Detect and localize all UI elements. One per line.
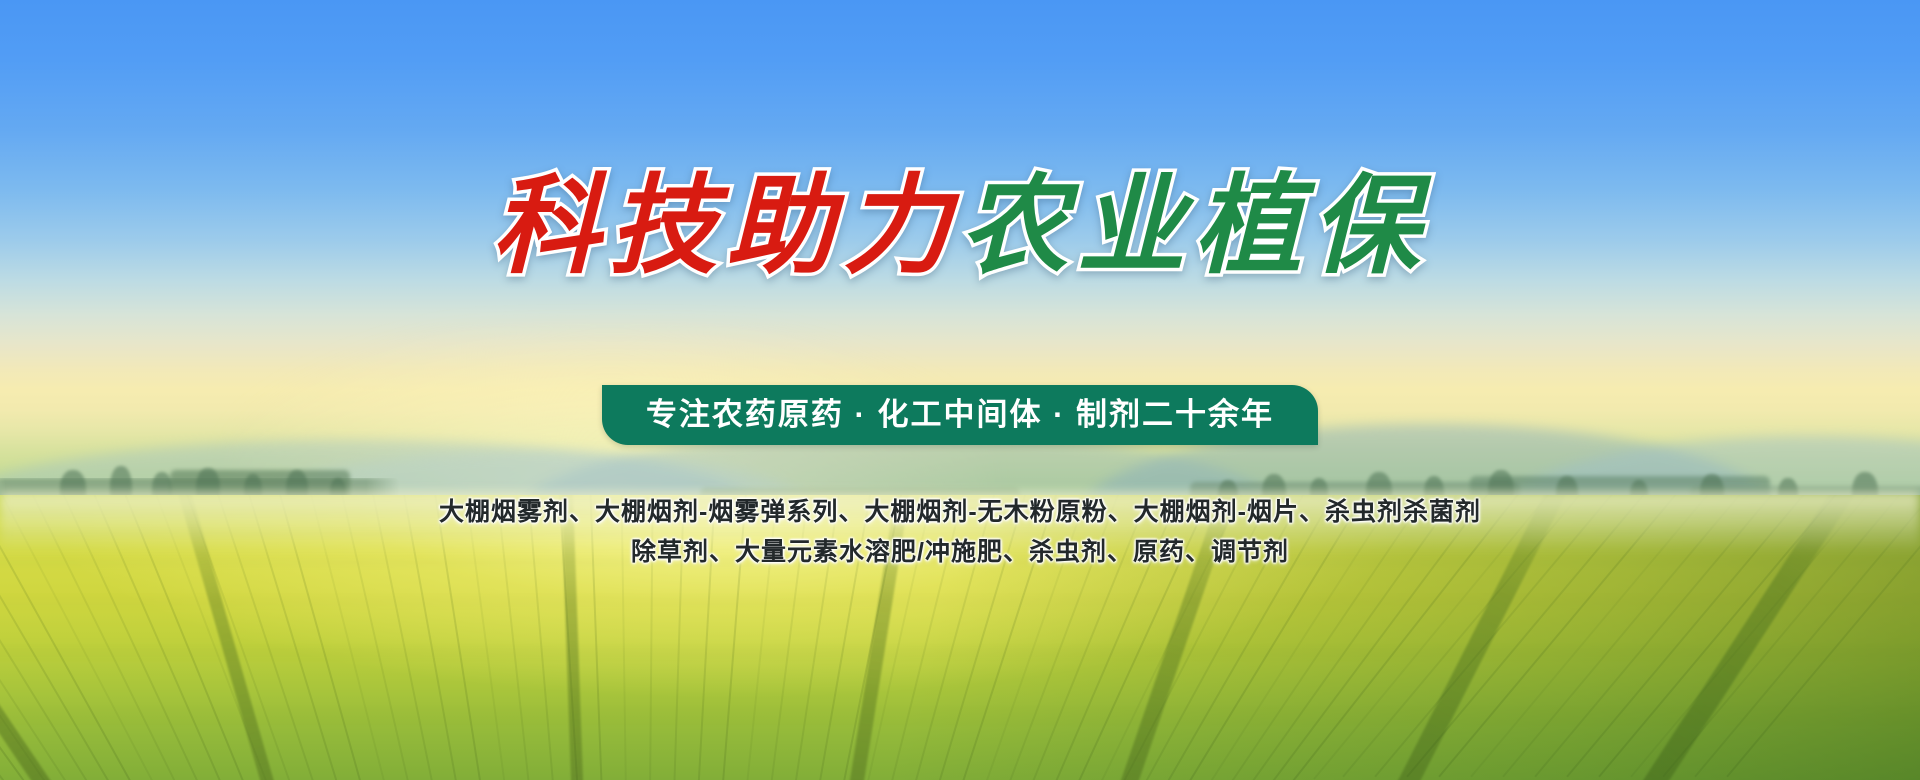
subtitle-badge: 专注农药原药 · 化工中间体 · 制剂二十余年 bbox=[602, 385, 1318, 445]
product-line-1: 大棚烟雾剂、大棚烟剂-烟雾弹系列、大棚烟剂-无木粉原粉、大棚烟剂-烟片、杀虫剂杀… bbox=[0, 492, 1920, 532]
product-line-2: 除草剂、大量元素水溶肥/冲施肥、杀虫剂、原药、调节剂 bbox=[0, 532, 1920, 572]
field-band bbox=[0, 707, 1920, 725]
product-list: 大棚烟雾剂、大棚烟剂-烟雾弹系列、大棚烟剂-无木粉原粉、大棚烟剂-烟片、杀虫剂杀… bbox=[0, 492, 1920, 572]
field-band bbox=[0, 595, 1920, 608]
field-band bbox=[0, 645, 1920, 660]
banner-subtitle-container: 专注农药原药 · 化工中间体 · 制剂二十余年 bbox=[0, 385, 1920, 445]
hero-banner: 科技助力农业植保 专注农药原药 · 化工中间体 · 制剂二十余年 大棚烟雾剂、大… bbox=[0, 0, 1920, 780]
